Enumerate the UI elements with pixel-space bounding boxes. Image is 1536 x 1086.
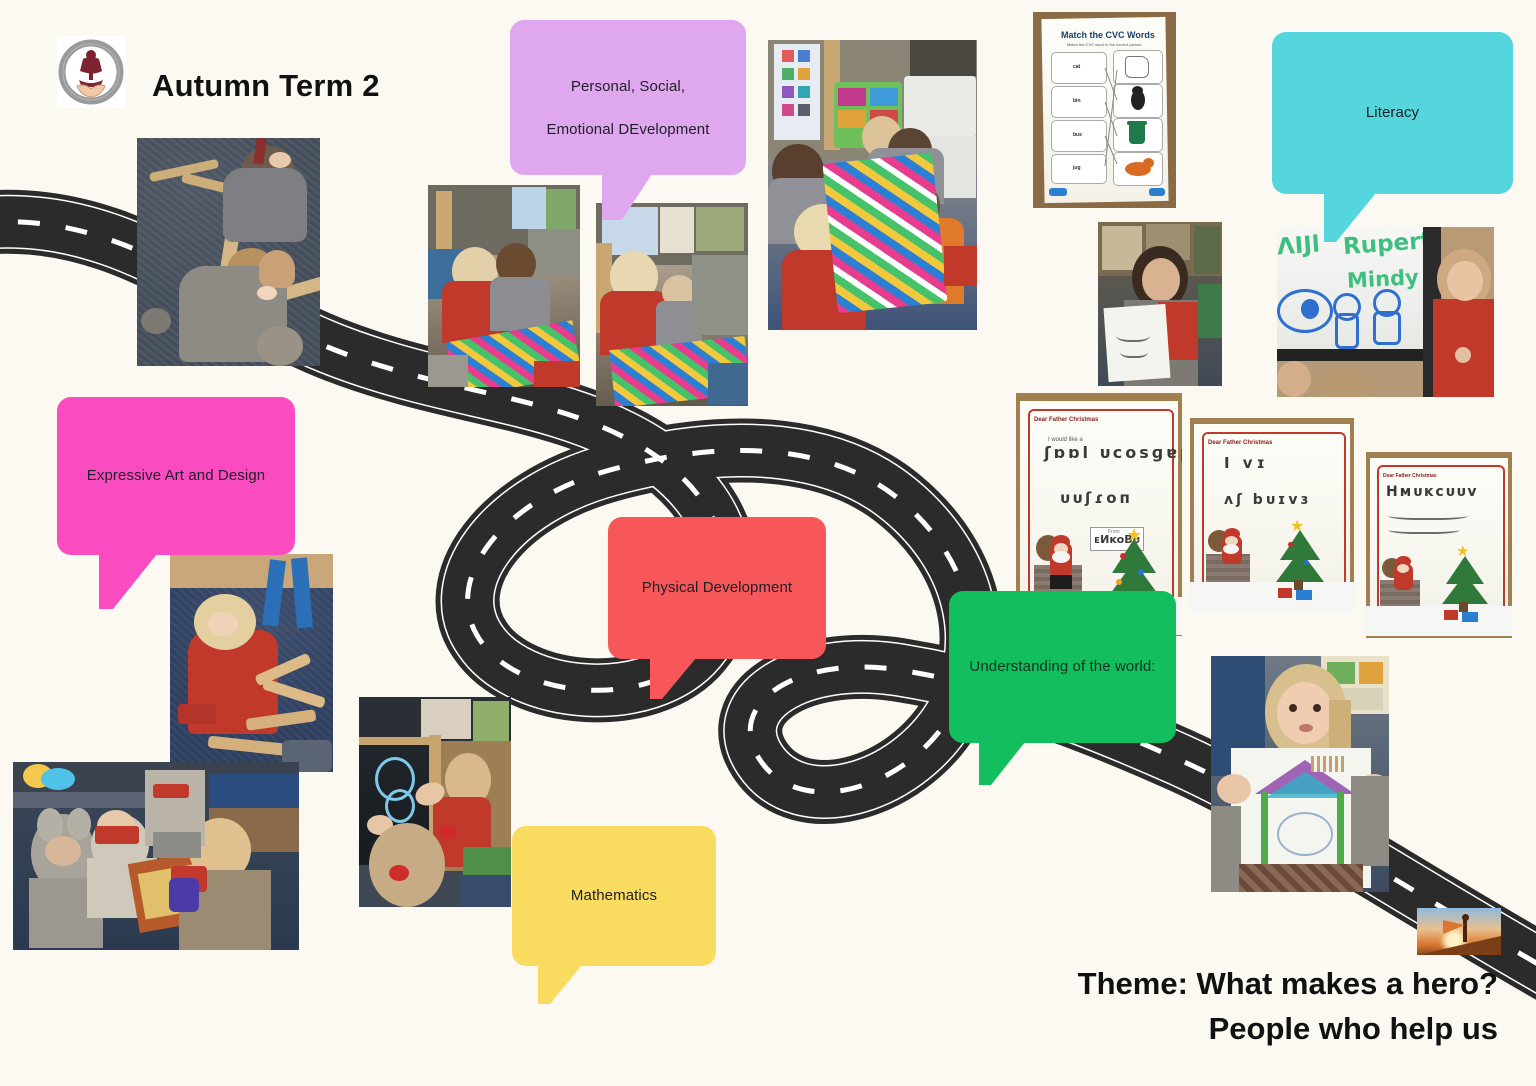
- bubble-label-literacy: Literacy: [1350, 102, 1435, 124]
- bubble-personal-social-emotional-development[interactable]: Personal, Social, Emotional DEvelopment: [510, 20, 746, 175]
- bubble-label-expressive-art: Expressive Art and Design: [71, 465, 281, 487]
- photo-nativity-play: [13, 762, 299, 950]
- letter-heading: Dear Father Christmas: [1034, 417, 1098, 423]
- bubble-literacy[interactable]: Literacy: [1272, 32, 1513, 194]
- letter-heading-3: Dear Father Christmas: [1383, 473, 1437, 479]
- bubble-expressive-art-and-design[interactable]: Expressive Art and Design: [57, 397, 295, 555]
- theme-title: Theme: What makes a hero? People who hel…: [1078, 962, 1498, 1052]
- worksheet-word-2: bus: [1073, 132, 1082, 138]
- psed-line-2: Emotional DEvelopment: [546, 121, 709, 138]
- photo-hero-sunset-thumbnail: [1417, 908, 1501, 955]
- theme-line-2: People who help us: [1078, 1007, 1498, 1052]
- psed-line-1: Personal, Social,: [571, 78, 685, 95]
- bubble-understanding-of-the-world[interactable]: Understanding of the world:: [949, 591, 1176, 743]
- worksheet-word-3: jug: [1073, 165, 1081, 171]
- photo-father-christmas-letter-3: Dear Father Christmas ᕼᴍᴜᴋᴄᴜᴜᴠ ★: [1366, 452, 1512, 638]
- photo-puzzle-table-medium: [596, 203, 748, 406]
- photo-whiteboard-names: Rupert Mindy ΛIJl: [1277, 227, 1494, 397]
- photo-construction-blocks: [170, 554, 333, 772]
- photo-chalkboard-drawing: [359, 697, 511, 907]
- photo-father-christmas-letter-2: Dear Father Christmas I ᴠɪ ʌʃ bᴜɪᴠɜ ★: [1190, 418, 1354, 614]
- worksheet-word-1: bin: [1073, 98, 1081, 104]
- poster-canvas: Match the CVC Words Match the CVC word t…: [0, 0, 1536, 1086]
- bubble-label-mathematics: Mathematics: [555, 885, 673, 907]
- letter-heading-2: Dear Father Christmas: [1208, 440, 1272, 446]
- bubble-tail-mathematics: [538, 965, 582, 1004]
- photo-puzzle-table-large: [768, 40, 977, 330]
- school-crest-logo: [57, 36, 125, 108]
- theme-line-1: Theme: What makes a hero?: [1078, 962, 1498, 1007]
- worksheet-word-0: cat: [1073, 64, 1080, 70]
- bubble-tail-literacy: [1324, 193, 1376, 242]
- photo-child-holding-paper: [1098, 222, 1222, 386]
- page-title: Autumn Term 2: [152, 68, 380, 104]
- bubble-tail-physical-development: [650, 658, 696, 699]
- photo-cvc-worksheet: Match the CVC Words Match the CVC word t…: [1033, 12, 1176, 208]
- bubble-tail-expressive-art: [99, 554, 157, 609]
- photo-puzzle-table-small: [428, 185, 580, 387]
- photo-wooden-train-track: [137, 138, 320, 366]
- bubble-physical-development[interactable]: Physical Development: [608, 517, 826, 659]
- bubble-mathematics[interactable]: Mathematics: [512, 826, 716, 966]
- worksheet-subtitle: Match the CVC word to the correct pictur…: [1067, 42, 1141, 47]
- worksheet-title: Match the CVC Words: [1061, 30, 1155, 40]
- bubble-tail-psed: [602, 174, 652, 220]
- bubble-tail-understanding-world: [979, 742, 1025, 785]
- bubble-label-understanding-world: Understanding of the world:: [953, 656, 1171, 678]
- bubble-label-physical-development: Physical Development: [626, 577, 808, 599]
- photo-girl-holding-drawing: [1211, 656, 1389, 892]
- bubble-label-psed: Personal, Social, Emotional DEvelopment: [530, 54, 725, 141]
